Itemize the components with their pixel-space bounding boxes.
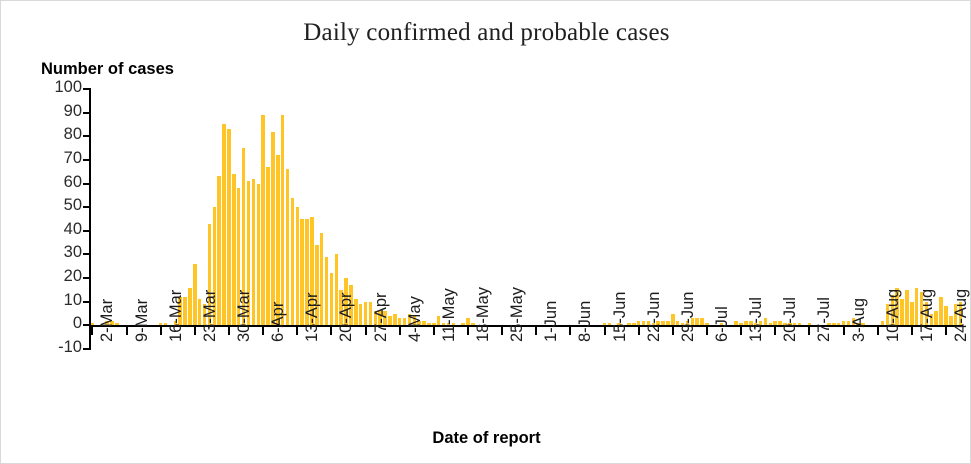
bar	[291, 198, 295, 326]
bar	[603, 323, 607, 325]
x-axis-tick-mark	[399, 327, 401, 335]
bar	[700, 318, 704, 325]
bar	[705, 323, 709, 325]
y-axis-tick-label: 100	[54, 78, 82, 97]
x-axis-tick-mark	[740, 327, 742, 335]
x-axis-tick-label: 27-Apr	[372, 292, 391, 342]
bar	[666, 321, 670, 326]
x-axis-tick-mark	[160, 327, 162, 335]
x-axis-tick-label: 20-Apr	[337, 292, 356, 342]
x-axis-tick-label: 16-Mar	[167, 290, 186, 342]
bar	[637, 321, 641, 326]
y-axis-tick-label: 60	[64, 173, 82, 192]
y-axis-tick-mark	[83, 253, 90, 255]
x-axis-tick-label: 11-May	[440, 288, 459, 342]
bar	[808, 323, 812, 325]
bar	[632, 323, 636, 325]
x-axis-tick-label: 25-May	[508, 287, 527, 342]
x-axis-tick-label: 24-Aug	[952, 289, 971, 342]
x-axis-tick-mark	[228, 327, 230, 335]
x-axis-tick-label: 30-Mar	[235, 290, 254, 342]
x-axis-tick-mark	[569, 327, 571, 335]
y-axis-tick-mark	[83, 206, 90, 208]
x-axis-tick-mark	[126, 327, 128, 335]
chart-title: Daily confirmed and probable cases	[1, 19, 971, 47]
x-axis-tick-mark	[467, 327, 469, 335]
y-axis-tick-label: 80	[64, 125, 82, 144]
bar	[188, 288, 192, 326]
x-axis-tick-label: 22-Jun	[645, 292, 664, 342]
bar	[910, 302, 914, 326]
y-axis-tick-mark	[83, 159, 90, 161]
x-axis-tick-mark	[501, 327, 503, 335]
bar	[461, 323, 465, 325]
bar	[364, 302, 368, 326]
y-axis-tick-label: 20	[64, 267, 82, 286]
x-axis-tick-mark	[604, 327, 606, 335]
bar	[837, 323, 841, 325]
x-axis-tick-label: 9-Mar	[133, 299, 152, 342]
y-axis-tick-label: 10	[64, 291, 82, 310]
x-axis-tick-label: 10-Aug	[884, 289, 903, 342]
x-axis-tick-mark	[296, 327, 298, 335]
y-axis-tick-mark	[83, 277, 90, 279]
x-axis-tick-label: 6-Jul	[713, 306, 732, 342]
bar	[432, 323, 436, 325]
x-axis-tick-label: 23-Mar	[201, 290, 220, 342]
y-axis-tick-mark	[83, 348, 90, 350]
x-axis-tick-label: 13-Jul	[747, 297, 766, 342]
x-axis-tick-mark	[535, 327, 537, 335]
x-axis-tick-mark	[945, 327, 947, 335]
x-axis-tick-mark	[706, 327, 708, 335]
x-axis-tick-label: 6-Apr	[269, 302, 288, 342]
x-axis-tick-mark	[91, 327, 93, 335]
x-axis-tick-mark	[330, 327, 332, 335]
bar	[193, 264, 197, 325]
x-axis-tick-mark	[911, 327, 913, 335]
bar	[330, 273, 334, 325]
bar	[671, 314, 675, 326]
x-axis-tick-mark	[877, 327, 879, 335]
x-axis-tick-mark	[808, 327, 810, 335]
y-axis-tick-label: 30	[64, 243, 82, 262]
x-axis-tick-label: 3-Aug	[850, 298, 869, 342]
bar	[91, 323, 95, 325]
bar	[276, 155, 280, 325]
y-axis-tick-label: 90	[64, 102, 82, 121]
x-axis-tick-label: 17-Aug	[918, 289, 937, 342]
bar	[359, 304, 363, 325]
y-axis-tick-label: -10	[58, 338, 82, 357]
x-axis-tick-label: 27-Jul	[815, 297, 834, 342]
bar	[944, 306, 948, 325]
chart-container: Daily confirmed and probable cases Numbe…	[0, 0, 971, 464]
bar	[773, 321, 777, 326]
bar	[769, 323, 773, 325]
y-axis-tick-label: 40	[64, 220, 82, 239]
bar	[393, 314, 397, 326]
bar	[739, 323, 743, 325]
x-axis-tick-mark	[194, 327, 196, 335]
y-axis-tick-mark	[83, 88, 90, 90]
bar	[325, 257, 329, 326]
bar	[905, 290, 909, 325]
bar	[734, 321, 738, 326]
x-axis-tick-mark	[433, 327, 435, 335]
x-axis-tick-label: 20-Jul	[781, 297, 800, 342]
bar	[257, 184, 261, 326]
x-axis-tick-label: 18-May	[474, 287, 493, 342]
bar	[398, 318, 402, 325]
y-axis-tick-label: 50	[64, 196, 82, 215]
x-axis-title: Date of report	[1, 429, 971, 448]
bar	[271, 132, 275, 326]
y-axis-tick-label: 0	[73, 314, 82, 333]
bar	[281, 115, 285, 325]
x-axis-tick-mark	[638, 327, 640, 335]
y-axis-tick-label: 70	[64, 149, 82, 168]
bar	[842, 321, 846, 326]
bar	[939, 297, 943, 325]
bar	[296, 207, 300, 325]
bar	[261, 115, 265, 325]
x-axis-tick-label: 15-Jun	[611, 292, 630, 342]
bar	[222, 124, 226, 325]
x-axis-tick-label: 29-Jun	[679, 292, 698, 342]
x-axis-tick-label: 13-Apr	[303, 292, 322, 342]
bar	[227, 129, 231, 325]
y-axis-tick-mark	[83, 135, 90, 137]
x-axis-tick-label: 4-May	[406, 296, 425, 342]
x-axis-tick-mark	[262, 327, 264, 335]
bar	[427, 323, 431, 325]
x-axis-tick-mark	[843, 327, 845, 335]
y-axis-tick-mark	[83, 301, 90, 303]
y-axis-title: Number of cases	[41, 60, 174, 79]
x-axis-tick-label: 8-Jun	[576, 301, 595, 342]
x-axis-tick-label: 1-Jun	[542, 301, 561, 342]
x-axis-tick-mark	[672, 327, 674, 335]
x-axis-tick-label: 2-Mar	[98, 299, 117, 342]
y-axis-tick-mark	[83, 112, 90, 114]
bar	[466, 318, 470, 325]
y-axis-tick-mark	[83, 183, 90, 185]
y-axis-tick-mark	[83, 324, 90, 326]
bar	[159, 323, 163, 325]
x-axis-tick-mark	[365, 327, 367, 335]
x-axis-tick-mark	[774, 327, 776, 335]
y-axis-tick-mark	[83, 230, 90, 232]
